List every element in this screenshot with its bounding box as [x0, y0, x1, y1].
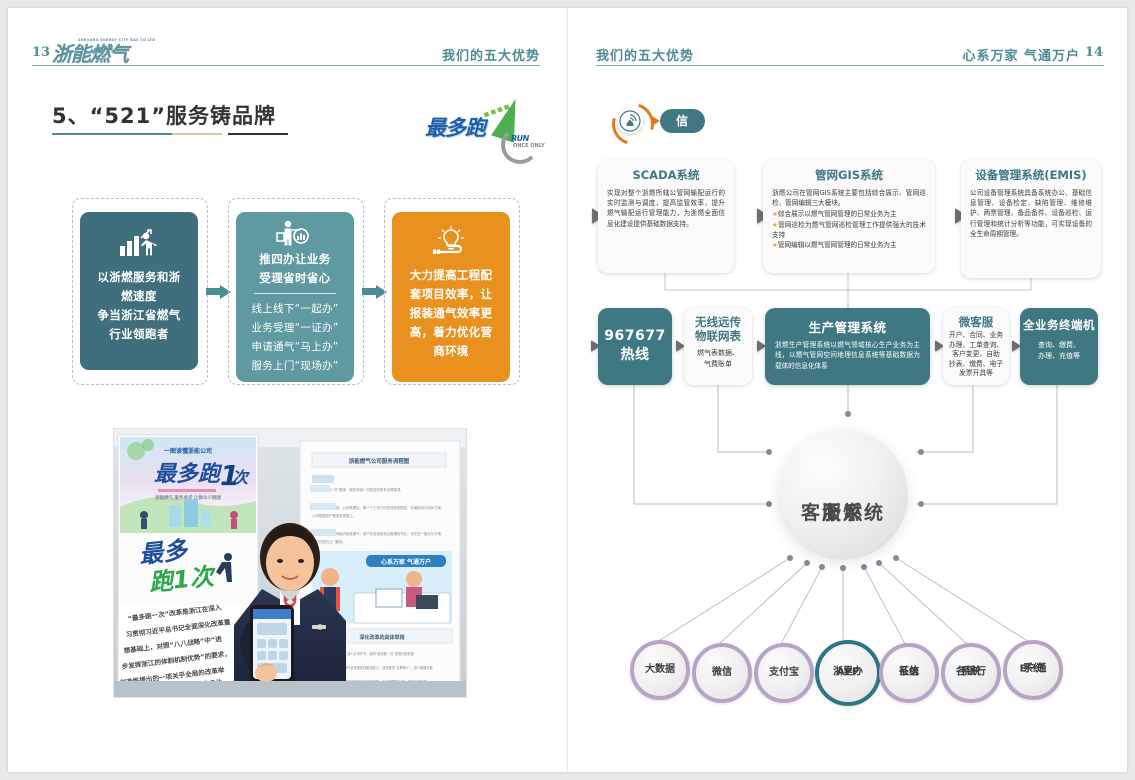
growth-chart-person-icon: [80, 228, 198, 262]
card-line: 线上线下“一起办”: [236, 300, 354, 319]
card-line: 以浙燃服务和浙: [80, 268, 198, 287]
connector-node: [876, 560, 882, 566]
terminal-box[interactable]: 全业务终端机 查询、缴费、 办理、充值等: [1020, 308, 1098, 385]
connector-node: [840, 565, 846, 571]
connector-node: [918, 501, 924, 507]
box-title-2: 物联网表: [684, 329, 752, 343]
service-counter-icon: [236, 220, 354, 250]
title-underline-dark: [228, 133, 288, 135]
svg-text:最多跑: 最多跑: [154, 462, 223, 487]
box-line: 办理、充值等: [1038, 352, 1080, 360]
run-once-logo: ▪▪▪▪ 最多跑 RUN ONCE ONLY: [425, 100, 547, 160]
card-line: 受理省时省心: [236, 269, 354, 288]
right-page-number: 14: [1085, 40, 1103, 66]
connector-arrow-stem-1: [206, 288, 220, 295]
channel-circle-bigdata[interactable]: 大数据: [630, 640, 690, 700]
header-rule: [596, 65, 1104, 67]
connector-node: [893, 555, 899, 561]
channel-circle-credit[interactable]: 征信系统: [879, 643, 939, 703]
svg-text:一图读懂浙能公司: 一图读懂浙能公司: [164, 447, 212, 455]
hotline-box[interactable]: 967677 热线: [598, 308, 672, 385]
card-line: 推四办让业务: [236, 250, 354, 269]
advantage-card-2[interactable]: 推四办让业务 受理省时省心 线上线下“一起办” 业务受理“一证办” 申请通气“马…: [236, 212, 354, 382]
card-line: 行业领跑者: [80, 325, 198, 344]
connector-node: [861, 564, 867, 570]
svg-text:次: 次: [232, 468, 250, 487]
title-underline-teal: [52, 133, 172, 135]
card-line: 高，着力优化营: [392, 323, 510, 342]
connector-node: [766, 501, 772, 507]
fingerprint-touch-icon: [617, 108, 643, 134]
box-title: 全业务终端机: [1020, 317, 1098, 333]
box-title: 生产管理系统: [765, 317, 930, 336]
box-line: 气费账单: [684, 359, 752, 370]
card-1-text-block: 以浙燃服务和浙 燃速度 争当浙江省燃气 行业领跑者: [80, 268, 198, 344]
badge-arrow-icon: [652, 116, 660, 126]
central-hub[interactable]: 浙燃客服系统: [778, 430, 908, 560]
svg-text:最多: 最多: [138, 536, 191, 569]
box-title: 微客服: [943, 315, 1009, 329]
connector-node: [819, 564, 825, 570]
card-2-title-block: 推四办让业务 受理省时省心: [236, 250, 354, 288]
system-box-gis[interactable]: 管网GIS系统 浙燃公司在管网GIS系统主要包括综合展示、管网巡检、管网编辑三大…: [763, 160, 935, 273]
slide-page: 我们的五大优势 13 ZHEJIANG ENERGY CITY GAS CO.L…: [0, 0, 1135, 780]
box-title-2: 热线: [598, 344, 672, 364]
connector-node: [918, 449, 924, 455]
system-box-scada[interactable]: SCADA系统 实现对整个浙燃所辖公管网输配运行的实时监测与调度，提高监管效率，…: [598, 160, 734, 273]
circle-label: E户通系统: [1004, 664, 1062, 677]
left-header-title: 我们的五大优势: [442, 45, 540, 64]
connector-node: [766, 449, 772, 455]
logo-sub-text-2: ONCE ONLY: [513, 143, 545, 149]
circle-label: 征信系统: [880, 667, 938, 680]
box-paragraph: 公司设备管理系统具备系统办公、基础信息管理、设备检定、缺陷管理、维修维护、两票管…: [961, 183, 1101, 239]
circle-label: 各银行系统: [942, 667, 1000, 680]
logo-main-text: 最多跑: [425, 112, 485, 142]
box-bullet: ★管网编辑以燃气管网管理的日常业务为主: [763, 240, 935, 250]
left-page-number: 13: [32, 40, 50, 66]
box-title: 无线远传: [684, 315, 752, 329]
box-title: 设备管理系统(EMIS): [961, 167, 1101, 183]
company-logo: ZHEJIANG ENERGY CITY GAS CO.LTD 浙能燃气: [52, 38, 142, 66]
box-paragraph: 实现对整个浙燃所辖公管网输配运行的实时监测与调度，提高监管效率，提升燃气输配运行…: [598, 183, 734, 229]
page-gutter: [567, 8, 568, 772]
channel-circle-alipay[interactable]: 支付宝: [754, 643, 814, 703]
card-line: 大力提高工程配: [392, 266, 510, 285]
connector-node: [787, 555, 793, 561]
badge-label: 信息化提升服务能力: [660, 109, 705, 133]
box-paragraph: 浙燃生产管理系统以燃气领域核心生产业务为主线，以燃气管网空间地理信息系统等基础数…: [765, 336, 930, 371]
right-header-left: 我们的五大优势: [596, 45, 694, 64]
channel-circle-zhelibanapp[interactable]: 浙里办APP: [815, 640, 881, 706]
box-title: 967677: [598, 328, 672, 344]
advantage-card-3[interactable]: 大力提高工程配 套项目效率，让 报装通气效率更 高，着力优化营 商环境: [392, 212, 510, 382]
production-mgmt-box[interactable]: 生产管理系统 浙燃生产管理系统以燃气领域核心生产业务为主线，以燃气管网空间地理信…: [765, 308, 930, 385]
title-underline-sand: [172, 133, 222, 135]
card-line: 申请通气“马上办”: [236, 338, 354, 357]
box-bullet: ★管网巡检为燃气管网巡检管理工作提供强大的技术支持: [763, 220, 935, 240]
box-line: 开户、合同、业务: [949, 331, 1003, 339]
lightbulb-hand-icon: [392, 226, 510, 262]
box-line: 发票开具等: [959, 369, 993, 377]
system-box-emis[interactable]: 设备管理系统(EMIS) 公司设备管理系统具备系统办公、基础信息管理、设备检定、…: [961, 160, 1101, 278]
box-title: 管网GIS系统: [763, 167, 935, 183]
box-body: 开户、合同、业务 办理、工单查询、 客户变更、自助 抄表、缴费、电子 发票开具等: [943, 331, 1009, 379]
right-page-header: 我们的五大优势 心系万家 气通万户: [596, 40, 1104, 66]
logo-sub-text: RUN: [511, 134, 529, 143]
connector-node: [845, 411, 851, 417]
card-line: 套项目效率，让: [392, 285, 510, 304]
box-title: SCADA系统: [598, 167, 734, 183]
card-divider: [254, 293, 336, 294]
channel-circle-banks[interactable]: 各银行系统: [941, 643, 1001, 703]
card-line: 业务受理“一证办”: [236, 319, 354, 338]
svg-text:心系万家 气通万户: 心系万家 气通万户: [381, 558, 431, 566]
card-line: 燃速度: [80, 287, 198, 306]
connector-node: [804, 560, 810, 566]
svg-text:浙能燃气公司服务流程图: 浙能燃气公司服务流程图: [349, 457, 410, 465]
iot-meter-box[interactable]: 无线远传 物联网表 燃气表数据、 气费账单: [684, 308, 752, 385]
promotional-photo: 一图读懂浙能公司 最多跑 1 次 浙能燃气 服务承诺 让群众少跑腿 最多 跑1次…: [113, 428, 467, 698]
advantage-card-1[interactable]: 以浙燃服务和浙 燃速度 争当浙江省燃气 行业领跑者: [80, 212, 198, 370]
connector-arrow-stem-2: [362, 288, 376, 295]
hub-label: 浙燃客服系统: [778, 464, 908, 494]
logo-chinese: 浙能燃气: [52, 38, 128, 67]
channel-circle-wechat[interactable]: 微信: [692, 643, 752, 703]
card-line: 争当浙江省燃气: [80, 306, 198, 325]
box-line: 客户变更、自助: [952, 350, 1000, 358]
box-line: 抄表、缴费、电子: [949, 360, 1003, 368]
section-title: 5、“521”服务铸品牌: [52, 100, 276, 130]
right-header-right: 心系万家 气通万户: [962, 45, 1080, 64]
box-line: 查询、缴费、: [1038, 341, 1080, 349]
box-paragraph: 浙燃公司在管网GIS系统主要包括综合展示、管网巡检、管网编辑三大模块。: [763, 183, 935, 208]
channel-circle-ehutong[interactable]: E户通系统: [1003, 640, 1063, 700]
svg-text:深化改革的具体举措: 深化改革的具体举措: [359, 634, 404, 641]
card-line: 商环境: [392, 342, 510, 361]
card-line: 服务上门“现场办”: [236, 357, 354, 376]
box-bullet: ★综合展示以燃气管网管理的日常业务为主: [763, 208, 935, 219]
wechat-service-box[interactable]: 微客服 开户、合同、业务 办理、工单查询、 客户变更、自助 抄表、缴费、电子 发…: [943, 308, 1009, 385]
svg-text:公司根据用户需求安排施工。: 公司根据用户需求安排施工。: [312, 513, 356, 518]
box-body: 查询、缴费、 办理、充值等: [1020, 333, 1098, 362]
box-line: 办理、工单查询、: [949, 341, 1003, 349]
card-line: 报装通气效率更: [392, 304, 510, 323]
card-3-body-block: 大力提高工程配 套项目效率，让 报装通气效率更 高，着力优化营 商环境: [392, 266, 510, 361]
circle-label: 浙里办APP: [816, 667, 880, 680]
card-2-body-block: 线上线下“一起办” 业务受理“一证办” 申请通气“马上办” 服务上门“现场办”: [236, 300, 354, 376]
box-line: 燃气表数据、: [684, 348, 752, 359]
